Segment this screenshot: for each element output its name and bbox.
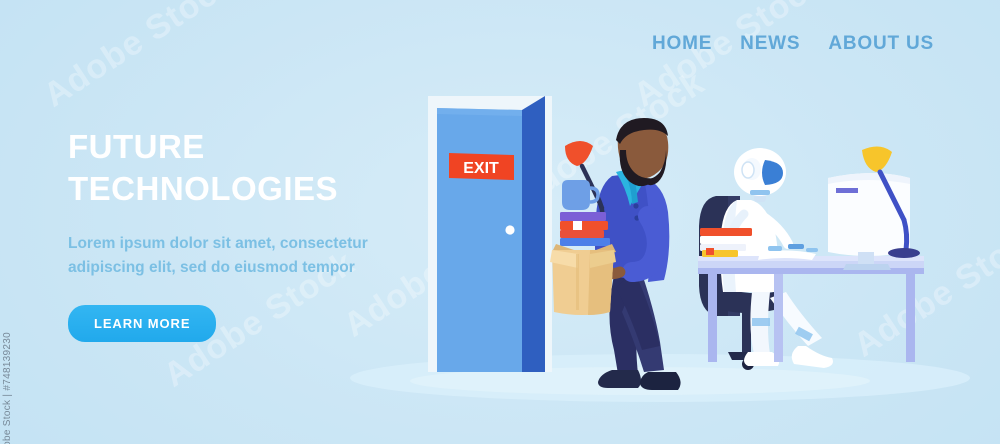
exit-sign: EXIT (449, 153, 514, 180)
robot-head (734, 148, 786, 196)
door-knob[interactable] (505, 225, 514, 234)
monitor-screen-text (836, 188, 858, 193)
exit-sign-label: EXIT (463, 160, 499, 177)
man-with-box (550, 118, 681, 390)
exit-door: EXIT (428, 96, 552, 372)
box-books (560, 212, 610, 246)
robot-workstation (698, 146, 924, 370)
hero-illustration: EXIT (0, 0, 1000, 444)
shoe-front (640, 372, 681, 390)
hero-banner: Adobe Stock Adobe Stock Adobe Stock Adob… (0, 0, 1000, 444)
cardboard-box (550, 244, 616, 315)
